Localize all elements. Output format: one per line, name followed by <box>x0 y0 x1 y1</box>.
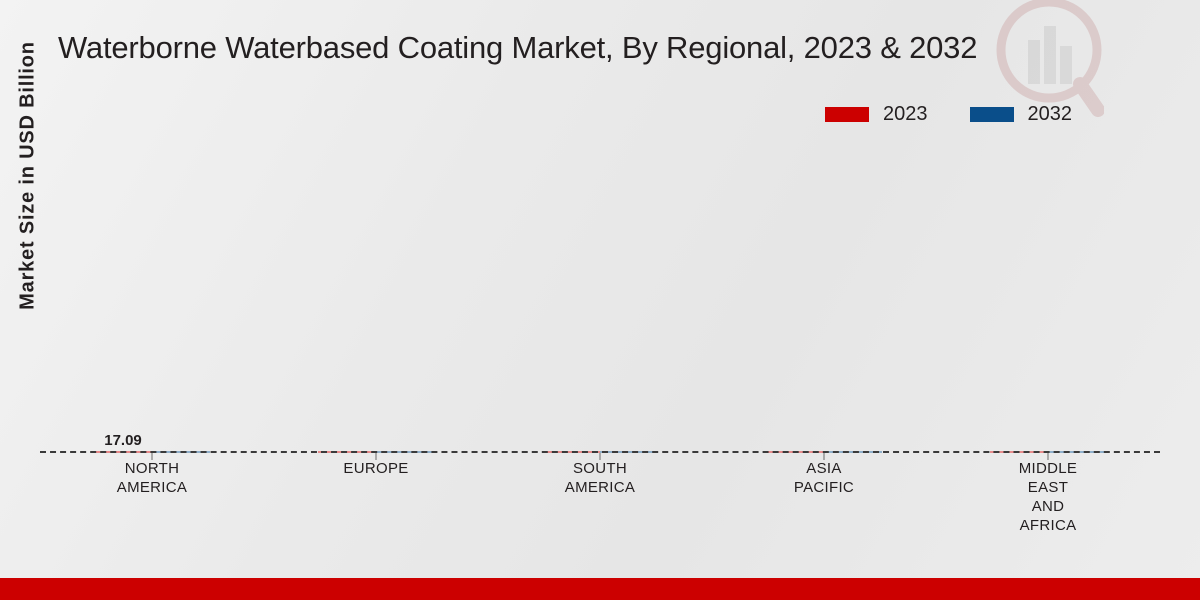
x-axis-label-europe: EUROPE <box>264 459 488 535</box>
chart-legend: 2023 2032 <box>825 103 1072 126</box>
x-label-line: EAST <box>936 478 1160 497</box>
x-label-line: SOUTH <box>488 459 712 478</box>
legend-label-2023: 2023 <box>883 103 928 126</box>
bar-group-north-america: 17.09 <box>40 140 264 453</box>
x-label-line: EUROPE <box>264 459 488 478</box>
x-axis-label-north-america: NORTH AMERICA <box>40 459 264 535</box>
legend-label-2032: 2032 <box>1028 103 1073 126</box>
x-axis-labels: NORTH AMERICA EUROPE SOUTH AMERICA ASIA … <box>40 459 1160 535</box>
chart-infographic: Waterborne Waterbased Coating Market, By… <box>0 0 1200 600</box>
legend-item-2023[interactable]: 2023 <box>825 103 928 126</box>
plot-area: 17.09 <box>40 140 1160 453</box>
x-label-line: NORTH <box>40 459 264 478</box>
x-axis-label-middle-east-and-africa: MIDDLE EAST AND AFRICA <box>936 459 1160 535</box>
legend-swatch-2032-icon <box>970 107 1014 122</box>
bar-group-middle-east-and-africa <box>936 140 1160 453</box>
x-label-line: AFRICA <box>936 516 1160 535</box>
x-label-line: AND <box>936 497 1160 516</box>
x-axis-label-asia-pacific: ASIA PACIFIC <box>712 459 936 535</box>
bar-group-asia-pacific <box>712 140 936 453</box>
x-axis-label-south-america: SOUTH AMERICA <box>488 459 712 535</box>
x-label-line: PACIFIC <box>712 478 936 497</box>
x-label-line: AMERICA <box>40 478 264 497</box>
x-label-line: AMERICA <box>488 478 712 497</box>
y-axis-label: Market Size in USD Billion <box>17 0 40 356</box>
bar-group-europe <box>264 140 488 453</box>
x-axis-baseline <box>40 451 1160 453</box>
footer-accent-bar <box>0 578 1200 600</box>
bar-group-south-america <box>488 140 712 453</box>
x-label-line: MIDDLE <box>936 459 1160 478</box>
bar-value-label: 17.09 <box>104 432 142 449</box>
legend-item-2032[interactable]: 2032 <box>970 103 1073 126</box>
legend-swatch-2023-icon <box>825 107 869 122</box>
page-title: Waterborne Waterbased Coating Market, By… <box>58 30 1088 66</box>
x-label-line: ASIA <box>712 459 936 478</box>
bar-groups: 17.09 <box>40 140 1160 453</box>
